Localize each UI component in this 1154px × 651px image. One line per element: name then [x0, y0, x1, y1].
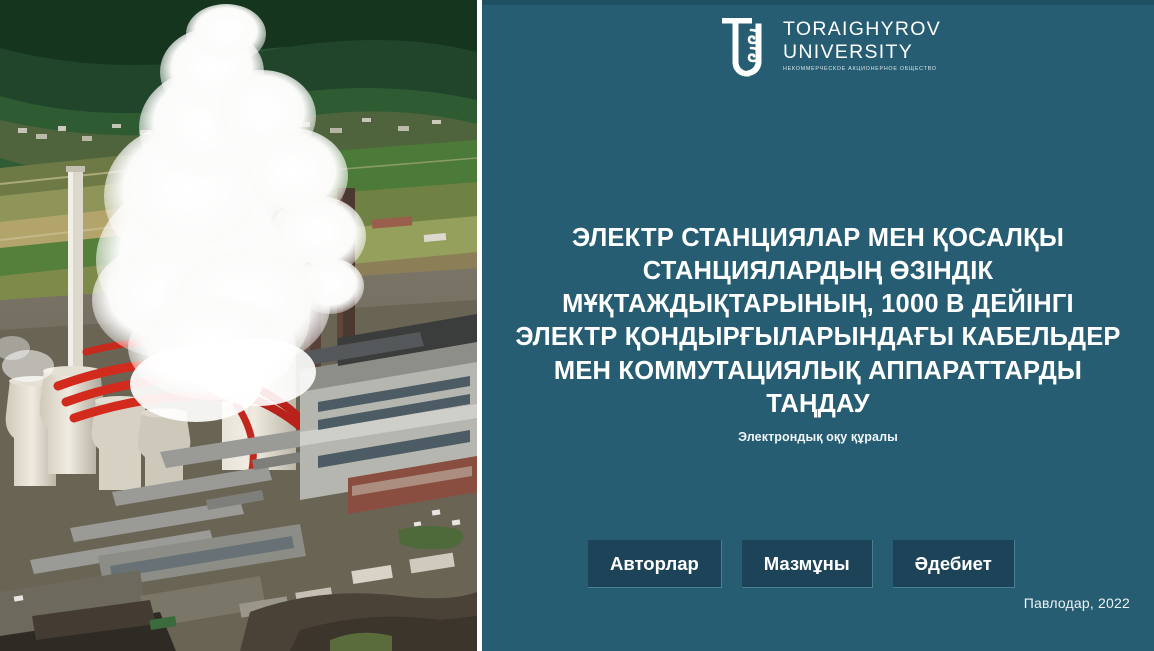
authors-button[interactable]: Авторлар [588, 540, 722, 588]
content-panel: TORAIGHYROV UNIVERSITY НЕКОММЕРЧЕСКОЕ АК… [482, 0, 1154, 651]
slide-subtitle: Электрондық оқу құралы [512, 430, 1124, 444]
presentation-title-slide: TORAIGHYROV UNIVERSITY НЕКОММЕРЧЕСКОЕ АК… [0, 0, 1154, 651]
university-logo: TORAIGHYROV UNIVERSITY НЕКОММЕРЧЕСКОЕ АК… [718, 16, 941, 78]
power-plant-photo [0, 0, 477, 651]
logo-line-2: UNIVERSITY [783, 43, 941, 63]
navigation-buttons: Авторлар Мазмұны Әдебиет [588, 540, 1015, 588]
power-plant-illustration [0, 0, 477, 651]
toraighyrov-tu-monogram-icon [718, 16, 772, 78]
top-accent-strip [482, 0, 1154, 5]
university-logo-text: TORAIGHYROV UNIVERSITY НЕКОММЕРЧЕСКОЕ АК… [783, 16, 941, 72]
logo-line-1: TORAIGHYROV [783, 20, 941, 40]
footer-place-year: Павлодар, 2022 [1024, 595, 1130, 611]
slide-title: ЭЛЕКТР СТАНЦИЯЛАР МЕН ҚОСАЛҚЫ СТАНЦИЯЛАР… [512, 222, 1124, 421]
literature-button[interactable]: Әдебиет [893, 540, 1015, 588]
logo-legal-subtitle: НЕКОММЕРЧЕСКОЕ АКЦИОНЕРНОЕ ОБЩЕСТВО [783, 67, 941, 72]
contents-button[interactable]: Мазмұны [742, 540, 873, 588]
